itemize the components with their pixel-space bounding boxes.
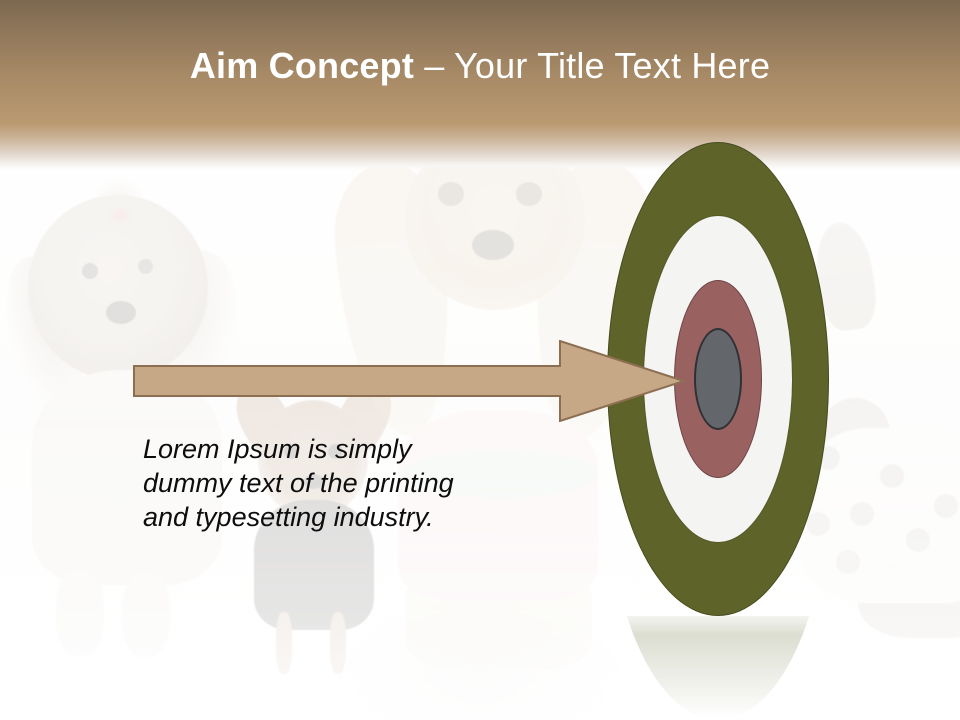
dog-paw-right — [122, 573, 170, 657]
page-title-separator: – — [414, 45, 454, 86]
body-text-line-2: dummy text of the printing — [143, 466, 563, 500]
dog-eye-right — [516, 182, 542, 206]
slide-canvas: Aim Concept – Your Title Text Here Lorem… — [0, 0, 960, 720]
body-text-line-3: and typesetting industry. — [143, 500, 563, 534]
body-text-line-1: Lorem Ipsum is simply — [143, 432, 563, 466]
dog-paw-left — [56, 570, 104, 656]
dog-eye-right — [138, 259, 153, 274]
dog-leg-right — [330, 612, 346, 674]
body-text: Lorem Ipsum is simply dummy text of the … — [143, 432, 563, 534]
target-ring-center — [694, 328, 742, 430]
dog-nose — [472, 230, 514, 260]
dog-hair-bow — [108, 207, 132, 224]
target-reflection-shape — [608, 616, 828, 720]
page-title-light: Your Title Text Here — [454, 45, 770, 86]
dog-eye-left — [82, 263, 98, 279]
target-reflection — [608, 616, 828, 720]
dog-topknot — [90, 175, 148, 233]
dog-leg-left — [276, 612, 292, 674]
page-title-strong: Aim Concept — [190, 45, 414, 86]
dog-nose — [106, 301, 136, 324]
page-title: Aim Concept – Your Title Text Here — [0, 45, 960, 87]
right-arrow-icon — [133, 340, 685, 422]
dog-eye-left — [438, 182, 464, 206]
